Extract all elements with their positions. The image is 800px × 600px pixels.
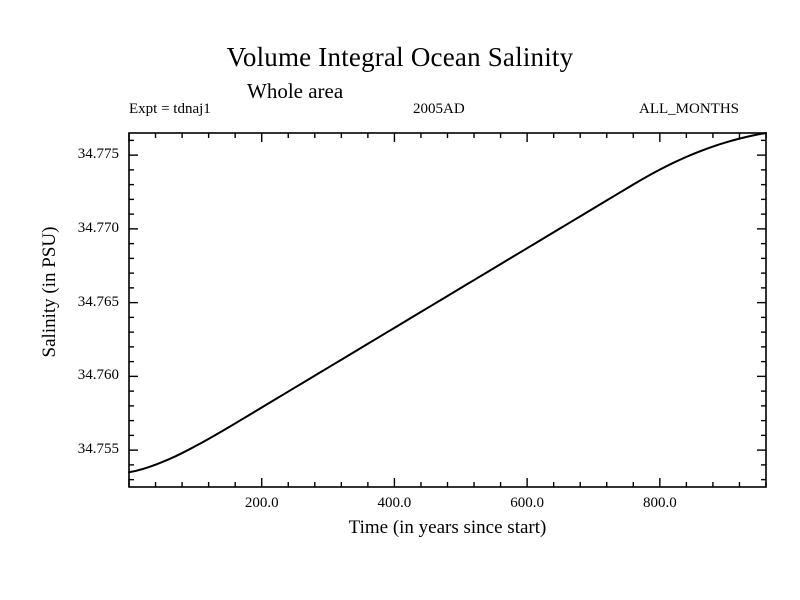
plot-figure: Volume Integral Ocean Salinity Whole are…: [0, 0, 800, 600]
axes-frame: [129, 133, 766, 487]
axis-tick-marks: [129, 133, 766, 487]
data-series-group: [129, 133, 766, 472]
plot-canvas: [0, 0, 800, 600]
